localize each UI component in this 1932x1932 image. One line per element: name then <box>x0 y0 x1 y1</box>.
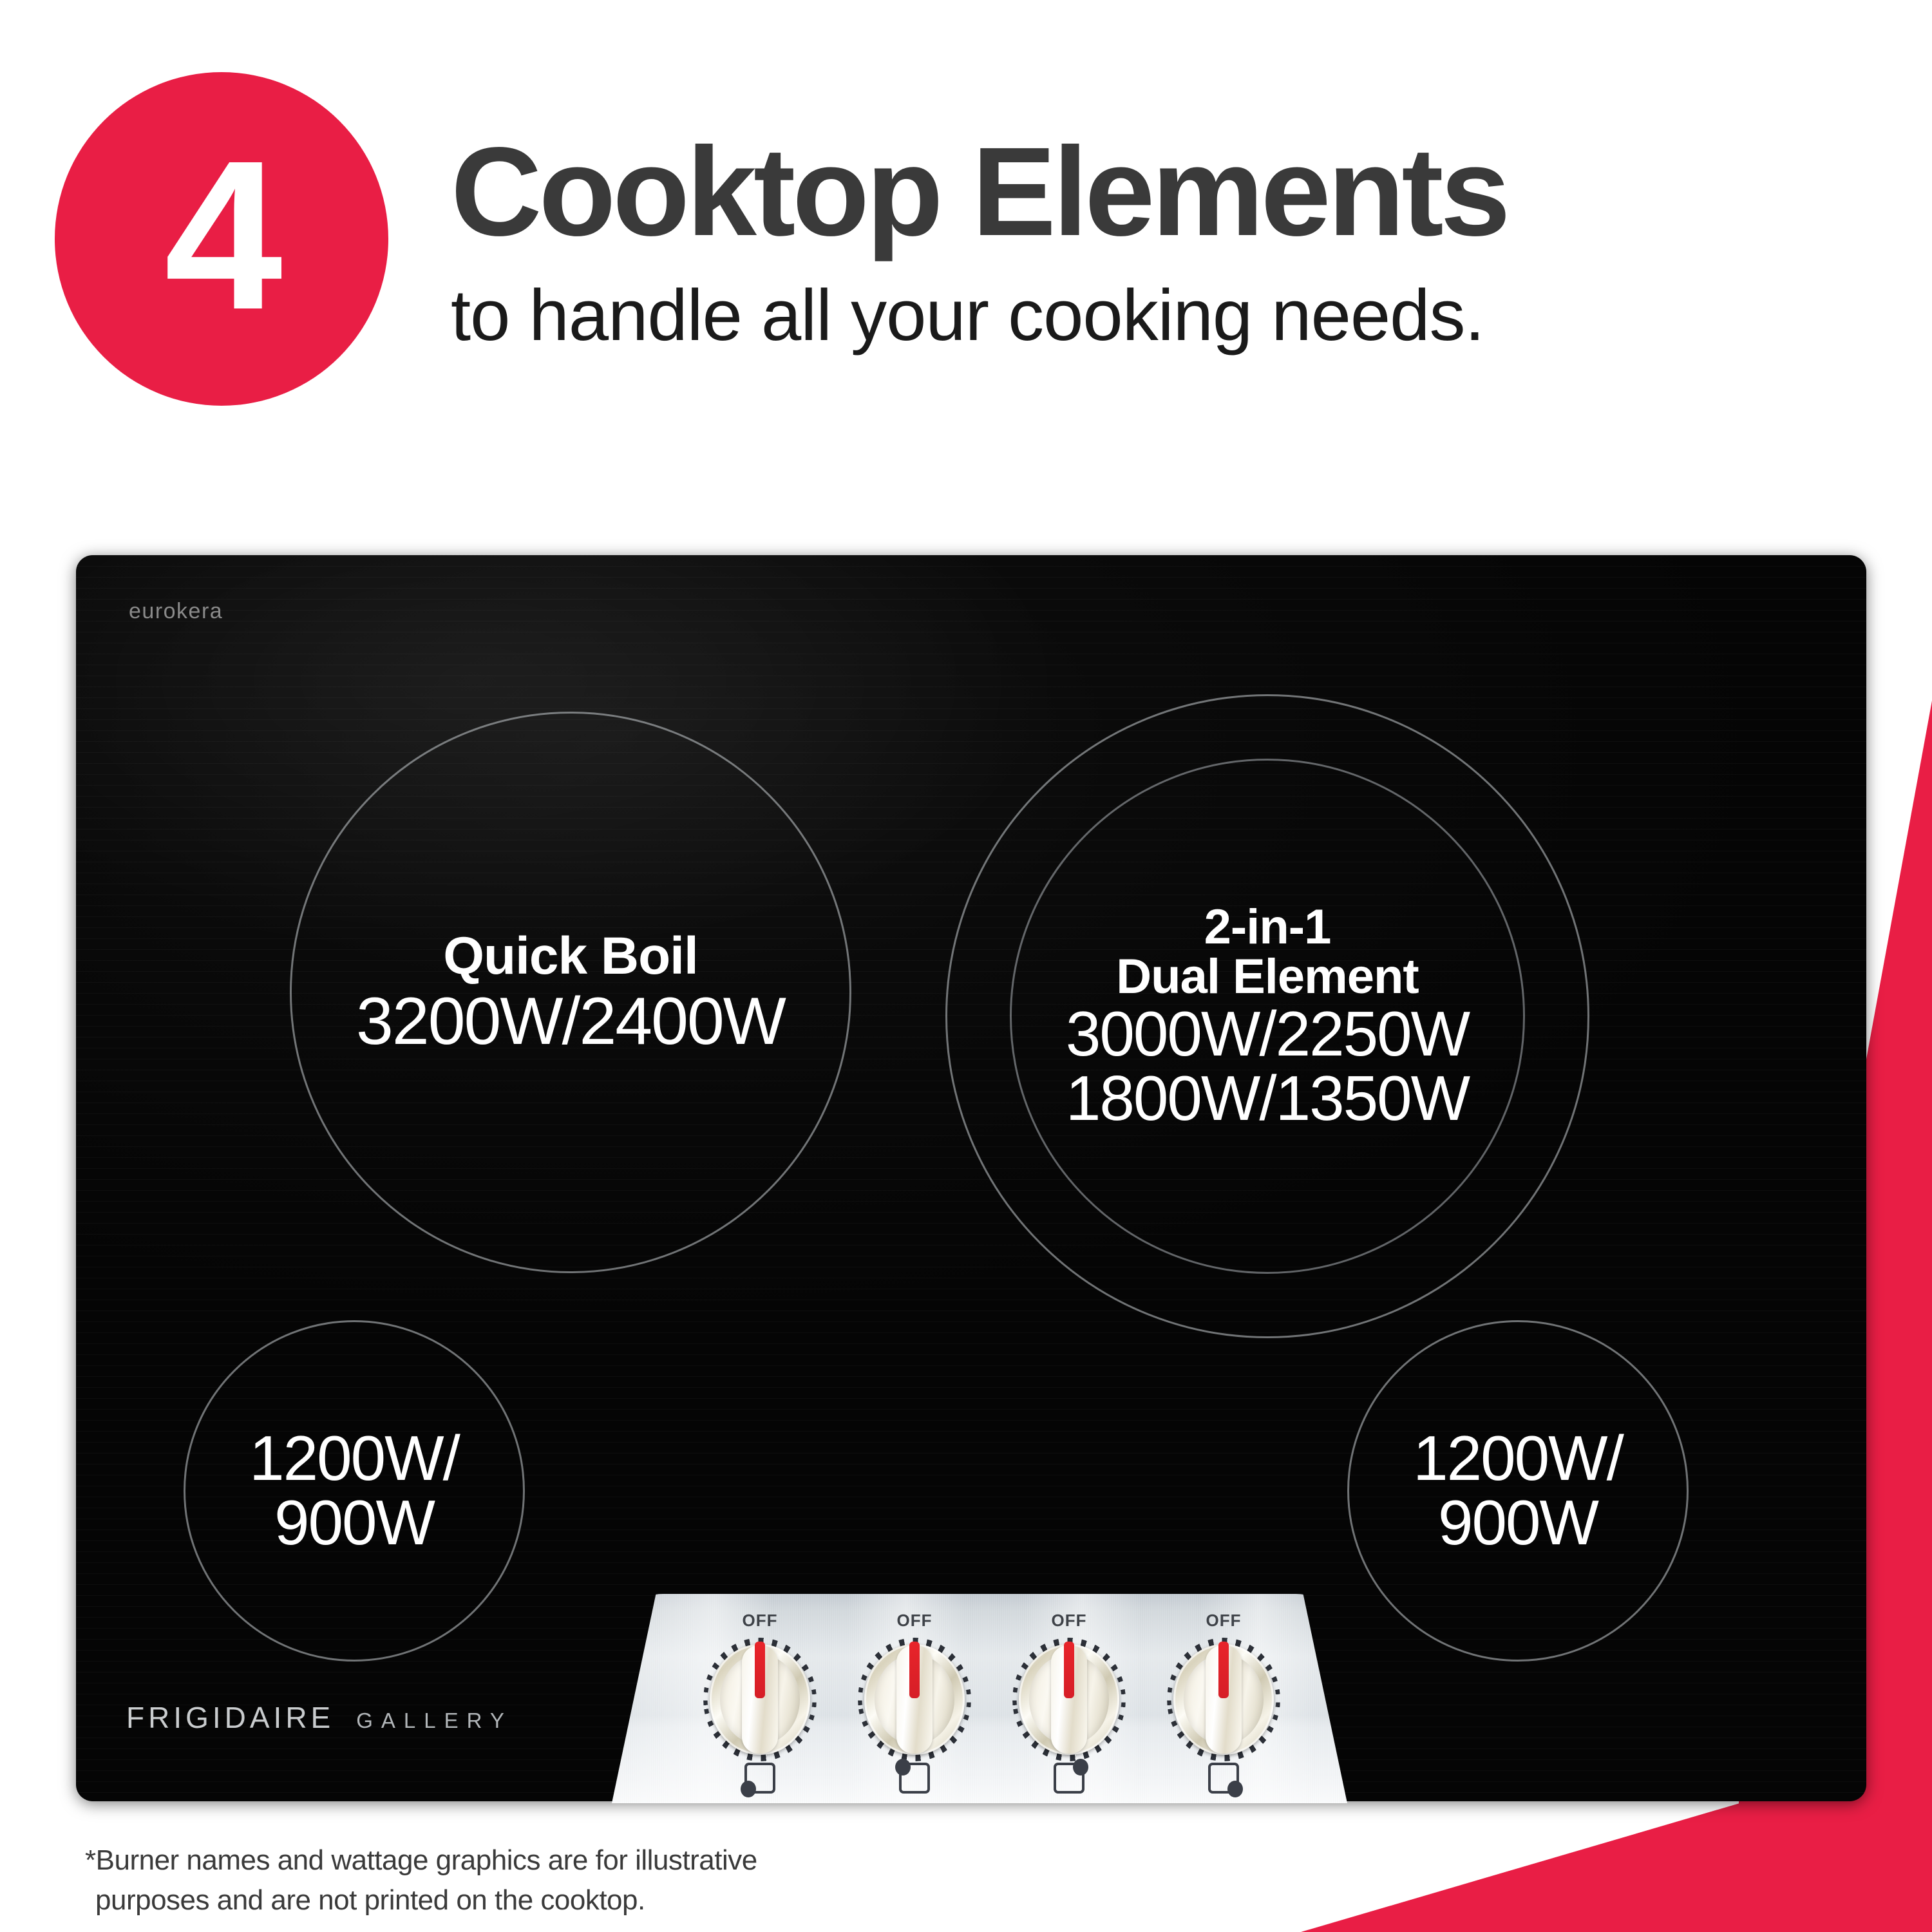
burner-position-dot <box>1073 1759 1088 1776</box>
burner-dual-element-name-line2: Dual Element <box>1066 952 1469 1002</box>
burner-front-left-label: 1200W/ 900W <box>249 1426 459 1555</box>
knob-4-off-label: OFF <box>1206 1611 1242 1631</box>
burner-dual-element-wattage-line1: 3000W/2250W <box>1066 1002 1469 1066</box>
burner-position-icon-front-right <box>1206 1760 1242 1796</box>
knob-3[interactable] <box>1015 1640 1123 1759</box>
red-accent-bottom-right <box>1301 1797 1932 1932</box>
page-title: Cooktop Elements <box>451 129 1868 255</box>
burner-front-left: 1200W/ 900W <box>184 1320 525 1662</box>
footnote-line-2: purposes and are not printed on the cook… <box>85 1880 757 1920</box>
knob-2[interactable] <box>860 1640 969 1759</box>
knob-3-pointer-icon <box>1064 1642 1074 1698</box>
burner-position-icon-rear-right <box>1051 1760 1087 1796</box>
burner-front-right-label: 1200W/ 900W <box>1413 1426 1623 1555</box>
knob-4-pointer-icon <box>1218 1642 1229 1698</box>
burner-front-right: 1200W/ 900W <box>1347 1320 1689 1662</box>
knob-1[interactable] <box>706 1640 814 1759</box>
burner-front-left-wattage-line2: 900W <box>249 1491 459 1555</box>
burner-quick-boil-name: Quick Boil <box>356 929 785 983</box>
header: 4 Cooktop Elements to handle all your co… <box>0 0 1932 438</box>
burner-dual-element-label: 2-in-1 Dual Element 3000W/2250W 1800W/13… <box>1066 902 1469 1131</box>
footnote-line-1: *Burner names and wattage graphics are f… <box>85 1844 757 1876</box>
burner-position-icon-front-left <box>742 1760 778 1796</box>
burner-position-dot <box>1227 1781 1243 1797</box>
burner-front-right-wattage-line2: 900W <box>1413 1491 1623 1555</box>
burner-quick-boil-wattage: 3200W/2400W <box>356 987 785 1056</box>
burner-position-icon-rear-left <box>896 1760 933 1796</box>
footnote: *Burner names and wattage graphics are f… <box>85 1841 757 1921</box>
burner-dual-element: 2-in-1 Dual Element 3000W/2250W 1800W/13… <box>945 694 1589 1338</box>
page-subtitle: to handle all your cooking needs. <box>451 279 1868 352</box>
burner-dual-element-name-line1: 2-in-1 <box>1066 902 1469 952</box>
burner-dual-element-wattage-line2: 1800W/1350W <box>1066 1066 1469 1131</box>
knob-4[interactable] <box>1170 1640 1278 1759</box>
knob-1-off-label: OFF <box>743 1611 778 1631</box>
burner-quick-boil-label: Quick Boil 3200W/2400W <box>356 929 785 1056</box>
brand-sub-name: GALLERY <box>356 1709 513 1733</box>
burner-front-right-wattage-line1: 1200W/ <box>1413 1426 1623 1491</box>
brand-name: FRIGIDAIRE <box>126 1700 334 1735</box>
burner-front-left-wattage-line1: 1200W/ <box>249 1426 459 1491</box>
burner-position-dot <box>895 1759 911 1776</box>
count-badge-number: 4 <box>164 129 279 341</box>
knob-1-pointer-icon <box>755 1642 765 1698</box>
burner-quick-boil: Quick Boil 3200W/2400W <box>290 712 851 1273</box>
marketing-graphic: 4 Cooktop Elements to handle all your co… <box>0 0 1932 1932</box>
knob-2-off-label: OFF <box>897 1611 933 1631</box>
eurokera-logo: eurokera <box>129 599 223 624</box>
burner-position-dot <box>741 1781 756 1797</box>
control-panel: OFF OFF OFF <box>612 1594 1347 1803</box>
title-block: Cooktop Elements to handle all your cook… <box>451 129 1868 352</box>
knob-2-pointer-icon <box>909 1642 920 1698</box>
knob-3-off-label: OFF <box>1052 1611 1087 1631</box>
count-badge: 4 <box>55 72 388 406</box>
frigidaire-gallery-logo: FRIGIDAIRE GALLERY <box>126 1700 513 1735</box>
